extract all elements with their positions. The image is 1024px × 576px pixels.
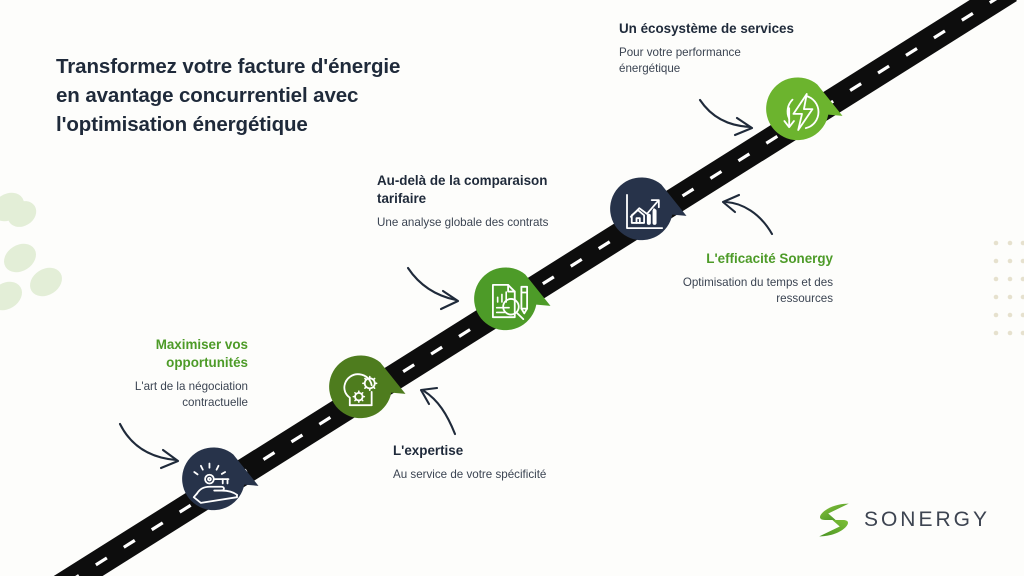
step-expertise-text: L'expertise Au service de votre spécific…	[393, 442, 563, 483]
step-efficacite-subtitle: Optimisation du temps et des ressources	[648, 275, 833, 307]
sonergy-bolt-mark	[817, 502, 851, 538]
step-opportunites-title: Maximiser vos opportunités	[96, 336, 248, 372]
step-opportunites-subtitle: L'art de la négociation contractuelle	[96, 379, 248, 411]
step-ecosysteme-text: Un écosystème de services Pour votre per…	[619, 20, 794, 77]
step-comparaison-text: Au-delà de la comparaison tarifaire Une …	[377, 172, 557, 231]
headline-line-2: en avantage concurrentiel avec	[56, 81, 476, 110]
step-efficacite-text: L'efficacité Sonergy Optimisation du tem…	[648, 250, 833, 307]
arrow-to-efficacite	[723, 195, 772, 234]
arrow-to-expertise	[421, 388, 455, 434]
arrow-to-ecosysteme	[700, 100, 752, 135]
page-title: Transformez votre facture d'énergie en a…	[56, 52, 476, 139]
step-comparaison-title: Au-delà de la comparaison tarifaire	[377, 172, 557, 208]
step-expertise-subtitle: Au service de votre spécificité	[393, 467, 563, 483]
step-ecosysteme-title: Un écosystème de services	[619, 20, 794, 38]
step-comparaison-subtitle: Une analyse globale des contrats	[377, 215, 557, 231]
step-efficacite-title: L'efficacité Sonergy	[648, 250, 833, 268]
headline-line-3: l'optimisation énergétique	[56, 110, 476, 139]
arrow-to-comparaison	[408, 268, 458, 309]
logo-wordmark: SONERGY	[864, 508, 990, 532]
headline-line-1: Transformez votre facture d'énergie	[56, 52, 476, 81]
step-expertise-title: L'expertise	[393, 442, 563, 460]
step-opportunites-text: Maximiser vos opportunités L'art de la n…	[96, 336, 248, 411]
step-ecosysteme-subtitle: Pour votre performance énergétique	[619, 45, 794, 77]
arrow-to-opportunites	[120, 424, 178, 468]
infographic-canvas: Transformez votre facture d'énergie en a…	[0, 0, 1024, 576]
sonergy-logo[interactable]: SONERGY	[817, 502, 990, 538]
